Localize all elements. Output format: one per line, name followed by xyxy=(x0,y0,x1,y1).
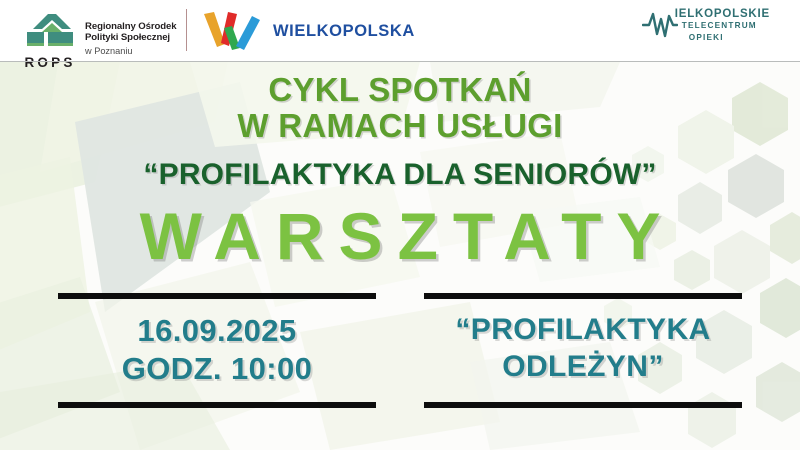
topic-block-2 xyxy=(424,408,742,420)
telecentrum-line-3: OPIEKI xyxy=(675,32,770,43)
time-text: GODZ. 10:00 xyxy=(58,350,376,388)
rops-roof-logo-icon xyxy=(22,7,78,55)
date-text: 16.09.2025 xyxy=(58,312,376,350)
ekg-wave-w-icon xyxy=(642,10,678,38)
date-time-block-2 xyxy=(58,408,376,420)
poster-content: CYKL SPOTKAŃ W RAMACH USŁUGI “PROFILAKTY… xyxy=(0,62,800,450)
topic-1-line-2: ODLEŻYN” xyxy=(424,349,742,386)
logo-divider xyxy=(186,9,187,51)
rops-wordmark: ROPS xyxy=(24,56,75,70)
telecentrum-logo: IELKOPOLSKIE TELECENTRUM OPIEKI xyxy=(642,8,770,44)
topic-1-line-1: “PROFILAKTYKA xyxy=(424,312,742,349)
date-time-block: 16.09.2025 GODZ. 10:00 xyxy=(58,299,376,388)
schedule-row-1: 16.09.2025 GODZ. 10:00 “PROFILAKTYKA ODL… xyxy=(0,293,800,388)
rops-line-2: Polityki Społecznej xyxy=(85,33,177,44)
schedule-row-2-left xyxy=(58,402,376,420)
telecentrum-line-2: TELECENTRUM xyxy=(675,20,770,32)
telecentrum-line-1: IELKOPOLSKIE xyxy=(675,8,770,20)
heading-line-2: W RAMACH USŁUGI xyxy=(0,108,800,144)
telecentrum-text-block: IELKOPOLSKIE TELECENTRUM OPIEKI xyxy=(675,8,770,44)
header-divider-rule xyxy=(0,61,800,62)
heading-line-1: CYKL SPOTKAŃ xyxy=(0,72,800,108)
poster-header: ROPS Regionalny Ośrodek Polityki Społecz… xyxy=(0,0,800,62)
heading-block: CYKL SPOTKAŃ W RAMACH USŁUGI xyxy=(0,62,800,144)
wielkopolska-w-logo-icon xyxy=(200,10,262,52)
event-type-title: WARSZTATY xyxy=(0,202,800,271)
schedule-row-1-left: 16.09.2025 GODZ. 10:00 xyxy=(58,293,376,388)
rops-text-block: Regionalny Ośrodek Polityki Społecznej w… xyxy=(85,20,177,56)
wielkopolska-logo: WIELKOPOLSKA xyxy=(200,10,415,52)
wielkopolska-wordmark: WIELKOPOLSKA xyxy=(273,22,415,41)
rops-line-3: w Poznaniu xyxy=(85,46,177,56)
topic-block-1: “PROFILAKTYKA ODLEŻYN” xyxy=(424,299,742,385)
poster-root: ROPS Regionalny Ośrodek Polityki Społecz… xyxy=(0,0,800,450)
service-subtitle: “PROFILAKTYKA DLA SENIORÓW” xyxy=(0,158,800,192)
schedule-row-2 xyxy=(0,402,800,420)
schedule-row-2-right xyxy=(424,402,742,420)
schedule-row-1-right: “PROFILAKTYKA ODLEŻYN” xyxy=(424,293,742,388)
